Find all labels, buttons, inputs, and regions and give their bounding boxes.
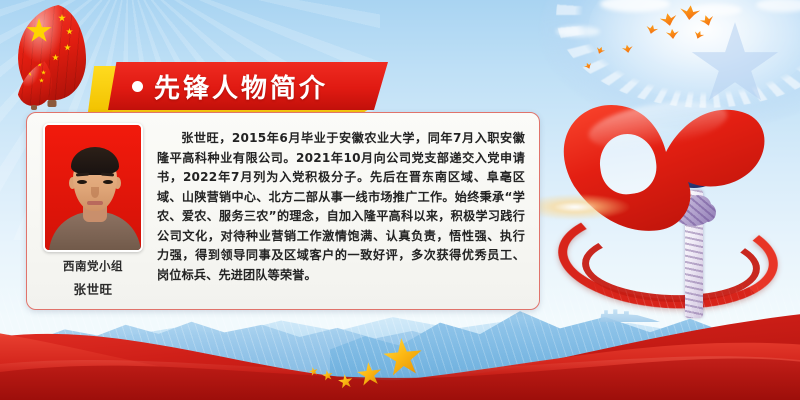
bird-icon [665,27,679,39]
balloon-star-small [58,14,66,22]
photo-eye-left [77,180,87,184]
page-title: 先锋人物简介 [154,64,328,108]
poster-canvas: 先锋人物简介 西南党小组 张世旺 张世旺，201 [0,0,800,400]
balloon-star-small [39,78,44,83]
balloon-star-small [66,28,73,35]
profile-name-label: 张世旺 [73,281,112,299]
balloon-envelope [16,56,52,106]
bird-icon [621,43,633,54]
photo-nose [91,187,99,198]
cloud-4 [556,26,600,37]
portrait-photo [43,123,143,252]
photo-column: 西南党小组 张世旺 [37,123,149,299]
hot-air-balloon-small-icon [16,56,52,106]
balloon-star-small [64,44,71,51]
photo-mouth [87,201,103,205]
bird-icon [679,3,701,21]
profile-bio-text: 张世旺，2015年6月毕业于安徽农业大学，同年7月入职安徽隆平高科种业有限公司。… [157,129,525,286]
balloon-basket [31,105,37,110]
profile-group-label: 西南党小组 [63,258,123,275]
photo-eye-right [103,180,113,184]
balloon-star-small [52,54,59,61]
balloon-star-big [21,64,34,77]
balloon-star-small [41,70,46,75]
profile-panel: 西南党小组 张世旺 张世旺，2015年6月毕业于安徽农业大学，同年7月入职安徽隆… [26,112,540,310]
bio-column: 张世旺，2015年6月毕业于安徽农业大学，同年7月入职安徽隆平高科种业有限公司。… [149,123,527,299]
balloon-star-big [26,18,52,44]
balloon-star-small [37,62,42,67]
banner-bullet-dot [132,81,143,92]
title-banner: 先锋人物简介 [88,62,388,114]
